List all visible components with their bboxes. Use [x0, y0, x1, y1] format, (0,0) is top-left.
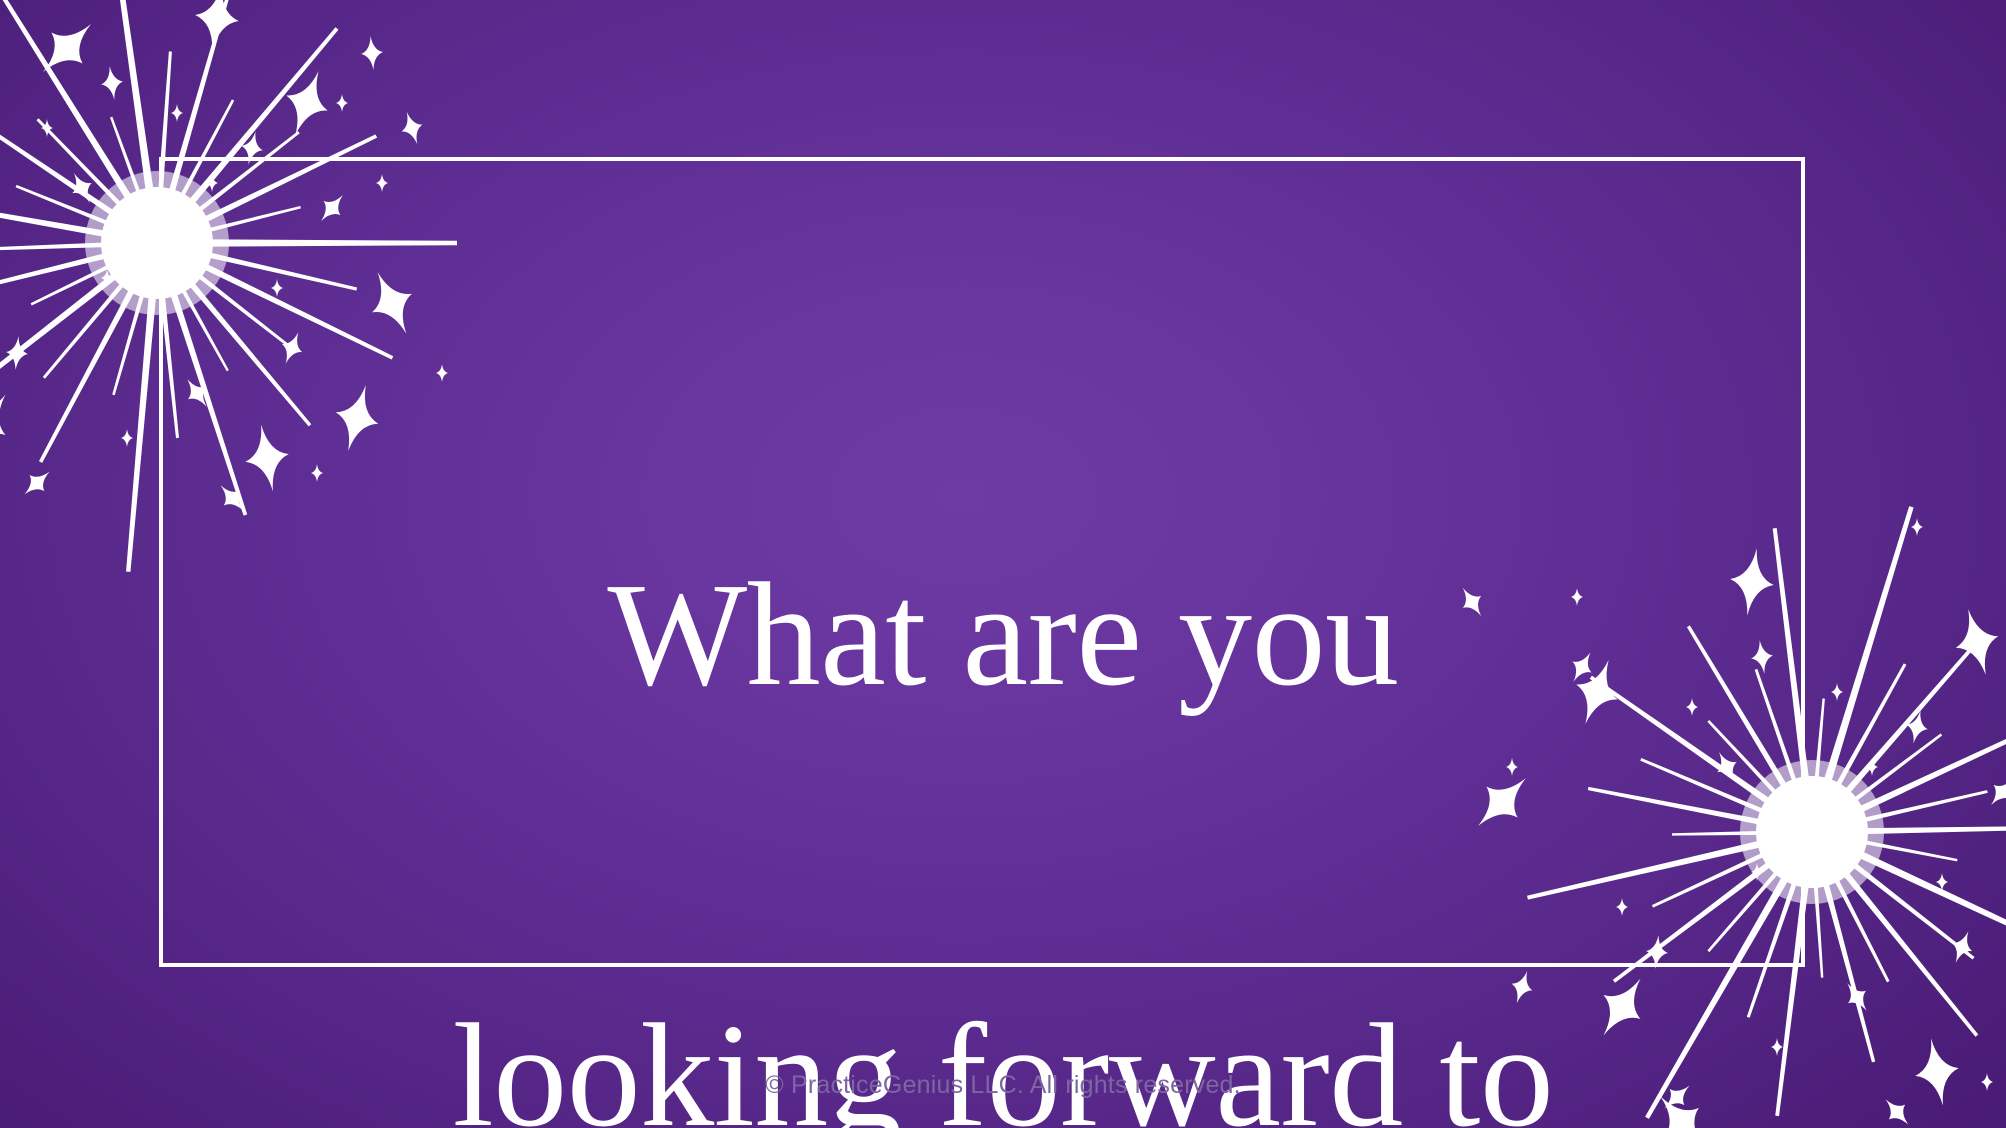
copyright-notice: © PracticeGenius LLC. All rights reserve… — [0, 1071, 2006, 1100]
headline-line-2: looking forward to — [0, 1003, 2006, 1128]
page-title: What are you looking forward to in the n… — [0, 268, 2006, 1128]
headline-line-1: What are you — [0, 562, 2006, 709]
slide-canvas: What are you looking forward to in the n… — [0, 0, 2006, 1128]
